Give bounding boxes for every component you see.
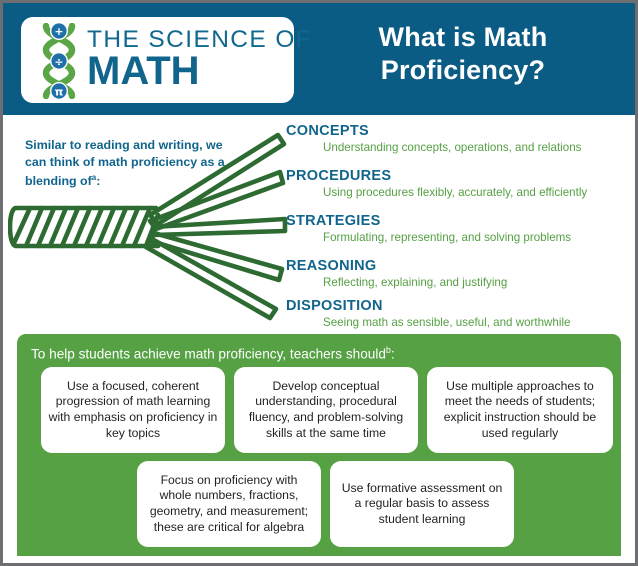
page-title-line-2: Proficiency? — [303, 54, 623, 87]
dna-helix-icon: + ÷ π — [34, 23, 84, 99]
page-title-line-1: What is Math — [303, 21, 623, 54]
strand-item-procedures: PROCEDURES Using procedures flexibly, ac… — [286, 168, 587, 200]
strand-title: STRATEGIES — [286, 213, 571, 230]
logo-badge-divide: ÷ — [54, 55, 63, 68]
logo-badge-plus: + — [54, 25, 63, 38]
logo-badge-pi: π — [55, 85, 64, 98]
strand-description: Understanding concepts, operations, and … — [323, 141, 581, 155]
strand-title: DISPOSITION — [286, 298, 570, 315]
strand-title: REASONING — [286, 258, 507, 275]
teacher-actions-footnote-marker: b — [386, 345, 391, 355]
logo-line-2: MATH — [87, 51, 287, 91]
action-card: Develop conceptual understanding, proced… — [234, 367, 418, 453]
teacher-actions-heading-body: To help students achieve math proficienc… — [31, 347, 386, 362]
infographic-poster: + ÷ π THE SCIENCE OF MATH What is Math P… — [0, 0, 638, 566]
strand-description: Reflecting, explaining, and justifying — [323, 276, 507, 290]
strand-title: CONCEPTS — [286, 123, 581, 140]
strand-title: PROCEDURES — [286, 168, 587, 185]
action-card: Focus on proficiency with whole numbers,… — [137, 461, 321, 547]
strand-description: Seeing math as sensible, useful, and wor… — [323, 316, 570, 330]
strand-description: Formulating, representing, and solving p… — [323, 231, 571, 245]
strand-item-reasoning: REASONING Reflecting, explaining, and ju… — [286, 258, 507, 290]
strand-item-strategies: STRATEGIES Formulating, representing, an… — [286, 213, 571, 245]
teacher-actions-heading: To help students achieve math proficienc… — [31, 341, 395, 364]
braided-rope-icon — [8, 123, 298, 328]
page-title: What is Math Proficiency? — [303, 21, 623, 87]
header-bar: + ÷ π THE SCIENCE OF MATH What is Math P… — [3, 3, 635, 115]
action-card: Use multiple approaches to meet the need… — [427, 367, 613, 453]
logo-wordmark: THE SCIENCE OF MATH — [87, 27, 287, 91]
teacher-actions-panel: To help students achieve math proficienc… — [17, 334, 621, 556]
strand-item-concepts: CONCEPTS Understanding concepts, operati… — [286, 123, 581, 155]
strand-item-disposition: DISPOSITION Seeing math as sensible, use… — [286, 298, 570, 330]
strand-description: Using procedures flexibly, accurately, a… — [323, 186, 587, 200]
action-card: Use formative assessment on a regular ba… — [330, 461, 514, 547]
brand-logo: + ÷ π THE SCIENCE OF MATH — [21, 17, 294, 103]
strands-panel: Similar to reading and writing, we can t… — [3, 115, 635, 331]
action-card: Use a focused, coherent progression of m… — [41, 367, 225, 453]
